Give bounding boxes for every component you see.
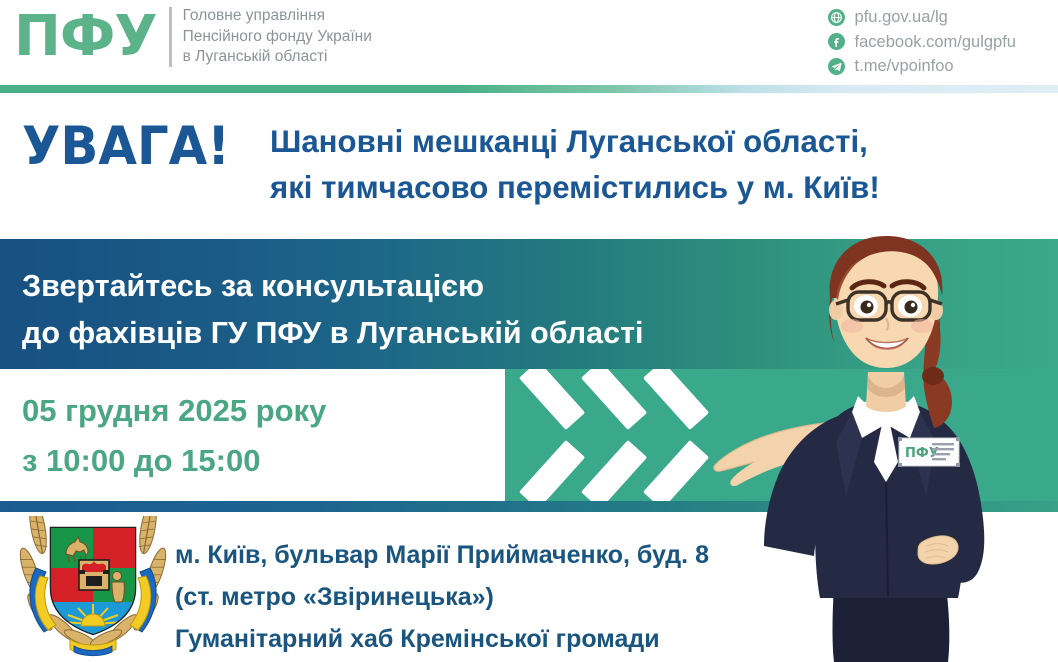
telegram-icon: [828, 58, 845, 75]
pfu-logo: ПФУ: [14, 8, 169, 66]
website-url: pfu.gov.ua/lg: [855, 5, 948, 30]
org-line-2: Пенсійного фонду України: [183, 27, 372, 48]
consultation-band: Звертайтесь за консультацією до фахівців…: [0, 239, 1058, 369]
organization-name: Головне управління Пенсійного фонду Укра…: [183, 6, 372, 68]
telegram-url: t.me/vpoinfoo: [855, 54, 954, 79]
social-link-telegram[interactable]: t.me/vpoinfoo: [828, 54, 1016, 79]
coat-of-arms-icon: [18, 516, 168, 660]
facebook-url: facebook.com/gulgpfu: [855, 30, 1016, 55]
org-line-1: Головне управління: [183, 6, 372, 27]
brand-divider: [169, 7, 172, 67]
attention-message: Шановні мешканці Луганської області, які…: [270, 118, 880, 210]
social-link-facebook[interactable]: facebook.com/gulgpfu: [828, 30, 1016, 55]
attention-line-1: Шановні мешканці Луганської області,: [270, 118, 880, 164]
address-text: м. Київ, бульвар Марії Приймаченко, буд.…: [175, 534, 709, 660]
facebook-icon: [828, 33, 845, 50]
attention-band: УВАГА! Шановні мешканці Луганської облас…: [0, 93, 1058, 239]
section-divider-bar: [0, 501, 1058, 512]
consultation-line-1: Звертайтесь за консультацією: [22, 263, 644, 310]
address-line-1: м. Київ, бульвар Марії Приймаченко, буд.…: [175, 534, 709, 576]
globe-icon: [828, 9, 845, 26]
announcement-poster: ПФУ Головне управління Пенсійного фонду …: [0, 0, 1058, 662]
event-date: 05 грудня 2025 року: [22, 386, 326, 436]
social-link-website[interactable]: pfu.gov.ua/lg: [828, 5, 1016, 30]
consultation-message: Звертайтесь за консультацією до фахівців…: [22, 263, 644, 357]
attention-headline: УВАГА!: [22, 119, 230, 175]
org-line-3: в Луганській області: [183, 47, 372, 68]
social-links: pfu.gov.ua/lg facebook.com/gulgpfu t.me/…: [828, 5, 1016, 79]
header: ПФУ Головне управління Пенсійного фонду …: [0, 0, 1058, 86]
chevron-left-icon: [643, 376, 717, 494]
schedule-text: 05 грудня 2025 року з 10:00 до 15:00: [22, 386, 326, 486]
header-divider-bar: [0, 85, 1058, 93]
consultation-line-2: до фахівців ГУ ПФУ в Луганській області: [22, 310, 644, 357]
event-time: з 10:00 до 15:00: [22, 436, 326, 486]
attention-line-2: які тимчасово перемістились у м. Київ!: [270, 164, 880, 210]
address-line-2: (ст. метро «Звіринецька»): [175, 576, 709, 618]
address-line-3: Гуманітарний хаб Кремінської громади: [175, 618, 709, 660]
chevron-arrows-panel: [505, 369, 1058, 501]
brand-block: ПФУ Головне управління Пенсійного фонду …: [14, 6, 372, 68]
